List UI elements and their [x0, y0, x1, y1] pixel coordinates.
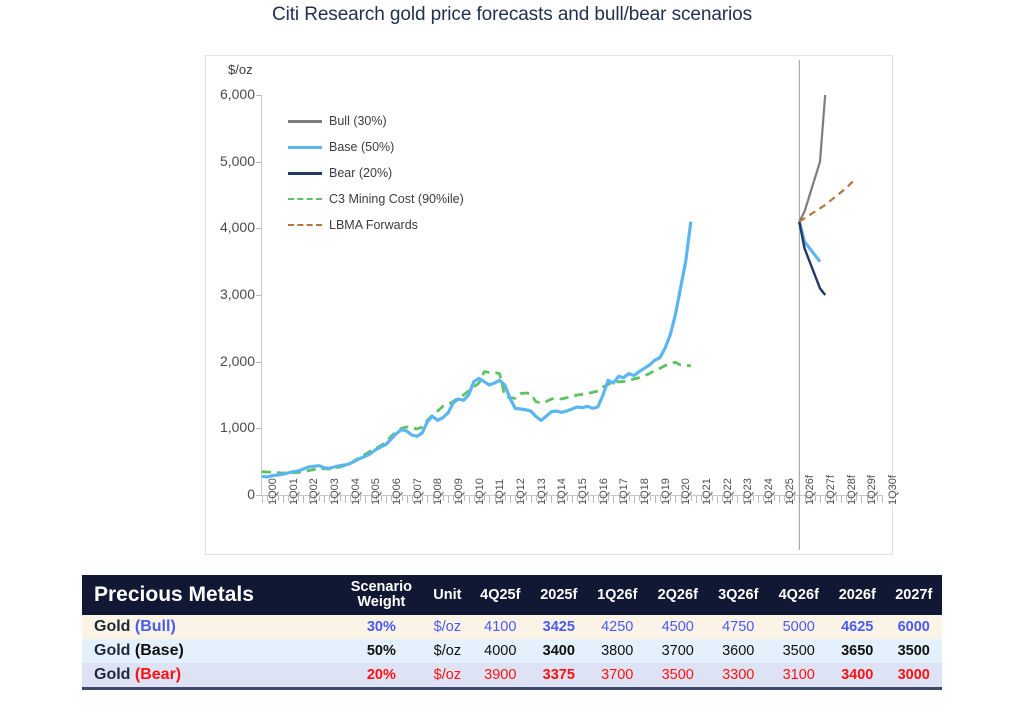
forecast-value: 3800	[587, 639, 648, 663]
forecast-value: 3650	[829, 639, 885, 663]
table-head: Precious MetalsScenarioWeightUnit4Q25f20…	[82, 575, 942, 615]
x-axis-tick-mark	[593, 496, 594, 503]
legend-item[interactable]: Base (50%)	[288, 134, 464, 160]
x-axis-tick-mark	[386, 496, 387, 503]
row-label-metal: Gold	[94, 666, 135, 683]
forecast-value: 3400	[829, 663, 885, 687]
x-axis-tick-mark	[365, 496, 366, 503]
forecast-value: 5000	[769, 615, 830, 639]
table-body: Gold (Bull)30%$/oz4100342542504500475050…	[82, 615, 942, 687]
y-axis-tick-label: 6,000	[193, 86, 255, 102]
table-header-2025f: 2025f	[531, 575, 587, 615]
x-axis-tick-mark	[820, 496, 821, 503]
table-bottom-rule	[82, 687, 942, 690]
table-header-4q25f: 4Q25f	[470, 575, 531, 615]
table-header-2026f: 2026f	[829, 575, 885, 615]
forecast-value: 3425	[531, 615, 587, 639]
legend-swatch-icon	[288, 193, 322, 205]
unit-value: $/oz	[425, 615, 470, 639]
forecast-value: 3700	[587, 663, 648, 687]
x-axis-tick-mark	[469, 496, 470, 503]
row-label-base: Gold (Base)	[82, 639, 338, 663]
forecast-value: 3500	[769, 639, 830, 663]
forecast-value: 4750	[708, 615, 769, 639]
x-axis-tick-mark	[427, 496, 428, 503]
x-axis-tick-mark	[882, 496, 883, 503]
x-axis-tick-mark	[675, 496, 676, 503]
y-axis-tick-label: 2,000	[193, 353, 255, 369]
forecast-value: 3500	[648, 663, 709, 687]
table-header-3q26f: 3Q26f	[708, 575, 769, 615]
unit-value: $/oz	[425, 639, 470, 663]
forecast-value: 3375	[531, 663, 587, 687]
legend-item[interactable]: Bear (20%)	[288, 160, 464, 186]
x-axis-tick-mark	[510, 496, 511, 503]
forecast-value: 3700	[648, 639, 709, 663]
row-label-metal: Gold	[94, 618, 135, 635]
legend-label: C3 Mining Cost (90%ile)	[329, 192, 464, 206]
forecast-value: 3600	[708, 639, 769, 663]
x-axis-tick-mark	[407, 496, 408, 503]
row-label-scenario: (Bear)	[135, 666, 181, 683]
x-axis-tick-mark	[861, 496, 862, 503]
series-bull	[799, 95, 825, 222]
row-label-bull: Gold (Bull)	[82, 615, 338, 639]
x-axis-tick-mark	[345, 496, 346, 503]
scenario-weight-line1: Scenario	[342, 580, 421, 595]
table-row: Gold (Base)50%$/oz4000340038003700360035…	[82, 639, 942, 663]
table-header-1q26f: 1Q26f	[587, 575, 648, 615]
legend-swatch-icon	[288, 219, 322, 231]
forecast-value: 3900	[470, 663, 531, 687]
row-label-bear: Gold (Bear)	[82, 663, 338, 687]
chart-legend: Bull (30%)Base (50%)Bear (20%)C3 Mining …	[288, 108, 464, 238]
forecast-table: Precious MetalsScenarioWeightUnit4Q25f20…	[82, 575, 942, 687]
y-axis-tick-label: 3,000	[193, 286, 255, 302]
legend-item[interactable]: Bull (30%)	[288, 108, 464, 134]
y-axis-title: $/oz	[228, 62, 253, 77]
forecast-value: 6000	[885, 615, 942, 639]
x-axis-tick-label: 1Q30f	[887, 475, 899, 505]
row-label-scenario: (Bull)	[135, 618, 176, 635]
forecast-value: 4500	[648, 615, 709, 639]
forecast-value: 3400	[531, 639, 587, 663]
forecast-value: 4625	[829, 615, 885, 639]
unit-value: $/oz	[425, 663, 470, 687]
legend-label: Base (50%)	[329, 140, 394, 154]
forecast-value: 3100	[769, 663, 830, 687]
x-axis-tick-mark	[324, 496, 325, 503]
x-axis-tick-mark	[489, 496, 490, 503]
x-axis-tick-mark	[737, 496, 738, 503]
legend-swatch-icon	[288, 167, 322, 179]
x-axis-tick-mark	[758, 496, 759, 503]
x-axis-tick-mark	[717, 496, 718, 503]
legend-label: Bear (20%)	[329, 166, 392, 180]
table-header-unit: Unit	[425, 575, 470, 615]
table-header-row: Precious MetalsScenarioWeightUnit4Q25f20…	[82, 575, 942, 615]
legend-swatch-icon	[288, 115, 322, 127]
scenario-weight-line2: Weight	[342, 595, 421, 610]
forecast-value: 4250	[587, 615, 648, 639]
table-header-2q26f: 2Q26f	[648, 575, 709, 615]
forecast-value: 4000	[470, 639, 531, 663]
row-label-metal: Gold	[94, 642, 135, 659]
x-axis-tick-mark	[572, 496, 573, 503]
forecast-value: 4100	[470, 615, 531, 639]
page-title: Citi Research gold price forecasts and b…	[0, 4, 1024, 26]
legend-label: Bull (30%)	[329, 114, 387, 128]
forecast-table-wrapper: Precious MetalsScenarioWeightUnit4Q25f20…	[82, 575, 942, 690]
legend-item[interactable]: LBMA Forwards	[288, 212, 464, 238]
x-axis-tick-mark	[779, 496, 780, 503]
table-row: Gold (Bear)20%$/oz3900337537003500330031…	[82, 663, 942, 687]
x-axis-tick-mark	[655, 496, 656, 503]
legend-item[interactable]: C3 Mining Cost (90%ile)	[288, 186, 464, 212]
scenario-weight-value: 50%	[338, 639, 425, 663]
series-base-history	[262, 222, 691, 477]
table-header-scenario-weight: ScenarioWeight	[338, 575, 425, 615]
x-axis-tick-mark	[448, 496, 449, 503]
legend-swatch-icon	[288, 141, 322, 153]
x-axis-tick-mark	[696, 496, 697, 503]
x-axis-tick-mark	[283, 496, 284, 503]
table-header-4q26f: 4Q26f	[769, 575, 830, 615]
table-row: Gold (Bull)30%$/oz4100342542504500475050…	[82, 615, 942, 639]
forecast-value: 3300	[708, 663, 769, 687]
forecast-value: 3000	[885, 663, 942, 687]
y-axis-tick-label: 4,000	[193, 219, 255, 235]
row-label-scenario: (Base)	[135, 642, 184, 659]
legend-label: LBMA Forwards	[329, 218, 418, 232]
table-header-precious-metals: Precious Metals	[82, 575, 338, 615]
scenario-weight-value: 30%	[338, 615, 425, 639]
scenario-weight-value: 20%	[338, 663, 425, 687]
x-axis-tick-mark	[841, 496, 842, 503]
x-axis-tick-mark	[551, 496, 552, 503]
x-axis-tick-mark	[613, 496, 614, 503]
y-axis-tick-label: 5,000	[193, 153, 255, 169]
x-axis-tick-mark	[262, 496, 263, 503]
forecast-value: 3500	[885, 639, 942, 663]
y-axis-tick-label: 0	[193, 486, 255, 502]
table-header-2027f: 2027f	[885, 575, 942, 615]
y-axis-tick-label: 1,000	[193, 419, 255, 435]
x-axis-tick-mark	[303, 496, 304, 503]
x-axis-tick-mark	[634, 496, 635, 503]
x-axis-tick-mark	[531, 496, 532, 503]
